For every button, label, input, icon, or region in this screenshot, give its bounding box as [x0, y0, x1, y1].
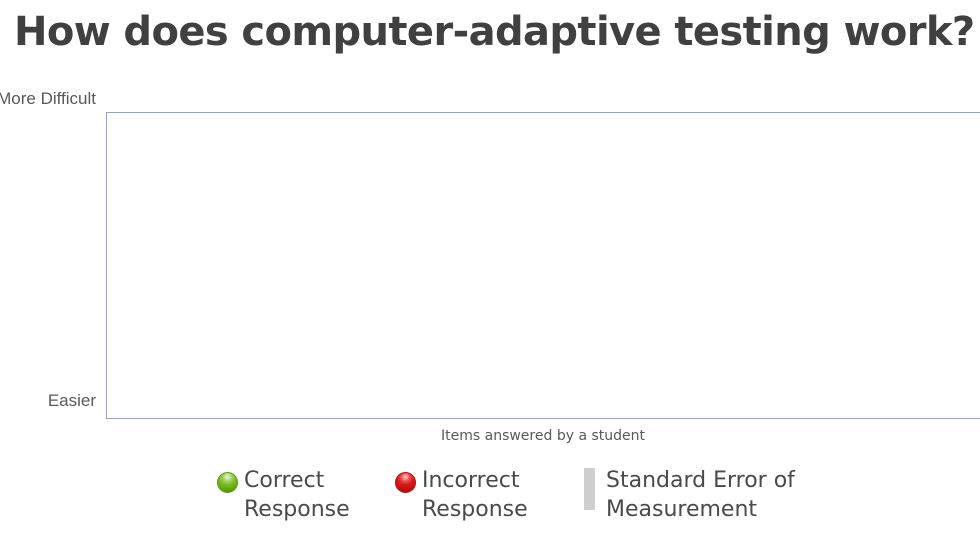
legend-label-sem: Standard Error of Measurement — [606, 466, 795, 524]
legend-label-incorrect: Incorrect Response — [422, 466, 528, 524]
legend-item-incorrect: Incorrect Response — [388, 466, 528, 524]
slide-canvas: How does computer-adaptive testing work?… — [0, 0, 980, 551]
red-sphere-icon — [395, 472, 416, 493]
y-axis-bottom-label: Easier — [0, 390, 96, 411]
green-sphere-icon — [217, 472, 238, 493]
legend-swatch-wrap-correct — [210, 466, 244, 493]
page-title: How does computer-adaptive testing work? — [14, 6, 964, 62]
chart-legend: Correct Response Incorrect Response Stan… — [210, 466, 870, 546]
plot-marks-layer — [107, 113, 980, 418]
x-axis-label: Items answered by a student — [106, 428, 980, 444]
y-axis-top-label: More Difficult — [0, 88, 96, 109]
legend-swatch-wrap-incorrect — [388, 466, 422, 493]
legend-item-correct: Correct Response — [210, 466, 350, 524]
legend-item-sem: Standard Error of Measurement — [572, 466, 795, 524]
legend-label-correct: Correct Response — [244, 466, 350, 524]
plot-area — [106, 112, 980, 419]
legend-swatch-wrap-sem — [572, 466, 606, 510]
grey-bar-icon — [584, 468, 595, 510]
